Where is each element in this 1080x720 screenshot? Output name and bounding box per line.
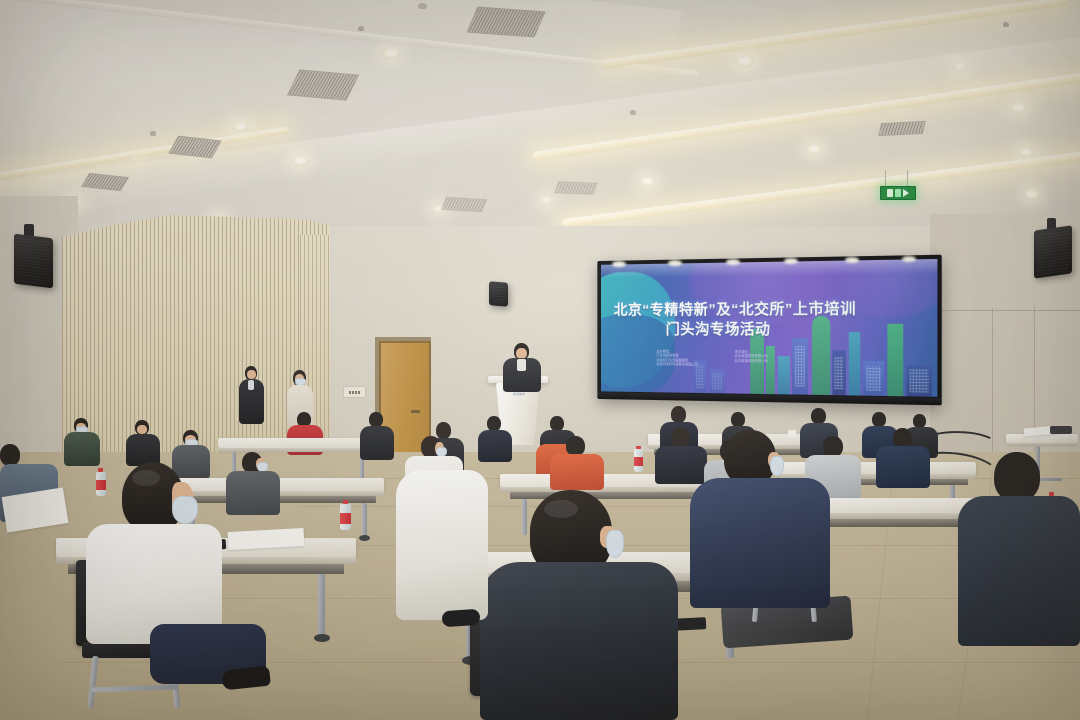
attendee-far-4	[360, 412, 394, 460]
attendee-body	[64, 432, 100, 466]
hvac-vent-7	[554, 181, 598, 194]
screen-title-line2: 门头沟专场活动	[666, 318, 771, 339]
screen-credits-left: 主办单位： 门头沟区经信局 中关村门头沟园管委会 北京中关村科技服务有限公司	[656, 349, 698, 367]
attendee-mask	[770, 456, 784, 476]
downlight-16	[540, 196, 553, 204]
attendee-standing-man	[239, 366, 265, 424]
attendee-mid-7	[876, 428, 930, 488]
attendee-body	[478, 430, 512, 462]
screen-reflection-2	[668, 260, 682, 266]
attendee-head	[994, 452, 1040, 502]
building-windows-4	[910, 369, 929, 392]
wall-speaker-left	[14, 234, 53, 289]
desk-leg	[362, 503, 367, 537]
downlight-9	[1010, 103, 1027, 113]
building-green-4	[887, 324, 903, 397]
attendee-shoe	[221, 666, 271, 691]
attendee-face	[137, 425, 147, 434]
exit-sign-rod-left	[885, 170, 886, 187]
attendee-head	[671, 406, 686, 423]
desk-foot	[314, 634, 330, 642]
conference-room-photo: 北京“专精特新”及“北交所”上市培训 门头沟专场活动 主办单位： 门头沟区经信局…	[0, 0, 1080, 720]
desk-leg	[318, 574, 325, 636]
emergency-exit-sign	[880, 186, 916, 200]
building-dark-2	[906, 365, 932, 397]
attendee-head	[811, 408, 826, 424]
building-windows-5	[696, 364, 705, 388]
wall-speaker-mid	[489, 281, 508, 306]
attendee-body	[550, 454, 604, 490]
downlight-12	[640, 177, 655, 186]
attendee-body	[958, 496, 1080, 646]
attendee-mask	[172, 496, 198, 524]
screen-credits-right: 承办单位： 北京某某股份有限公司 北京某某科技有限公司	[735, 350, 768, 363]
attendee-shirt	[248, 380, 254, 390]
av-table-top	[1006, 434, 1078, 443]
downlight-18	[952, 62, 967, 71]
building-windows-2	[834, 356, 843, 389]
downlight-1	[382, 48, 401, 59]
attendee-head	[566, 436, 585, 456]
wall-panel-seam-1	[992, 308, 993, 458]
attendee-head	[0, 444, 20, 466]
speaker-grill-right	[1037, 229, 1069, 275]
hvac-vent-1	[287, 69, 359, 100]
desk-foot	[359, 535, 370, 541]
desk-top	[218, 438, 378, 448]
water-bottle-1[interactable]	[340, 500, 351, 530]
av-table-device	[1050, 426, 1072, 434]
attendee-head	[487, 416, 501, 431]
sprinkler-head-4	[1003, 22, 1009, 27]
building-mid-2	[709, 369, 724, 393]
building-blue-2	[863, 361, 884, 396]
hvac-vent-6	[441, 197, 488, 212]
attendee-front-white-shirt	[86, 462, 266, 720]
attendee-body-coat	[396, 470, 488, 620]
presenter-shirt	[517, 359, 526, 371]
building-windows-6	[712, 373, 722, 389]
attendee-front-white-coat	[396, 470, 506, 650]
building-teal-1	[778, 356, 790, 394]
attendee-front-navy	[690, 430, 840, 630]
downlight-11	[1024, 190, 1039, 199]
building-teal-2	[849, 332, 860, 396]
door-plaque	[343, 386, 366, 398]
screen-title-line1: 北京“专精特新”及“北交所”上市培训	[614, 297, 856, 319]
attendee-head	[550, 416, 564, 431]
exit-arrow-icon	[903, 189, 909, 197]
attendee-mid-3	[550, 436, 604, 490]
attendee-mask	[606, 530, 624, 558]
wall-panel-seam-3	[930, 310, 1080, 311]
running-man-icon	[887, 189, 893, 197]
downlight-10	[1018, 148, 1034, 157]
exit-sign-rod-right	[907, 170, 908, 187]
building-windows-1	[795, 346, 805, 386]
wall-speaker-right	[1034, 225, 1072, 278]
led-screen-shell: 北京“专精特新”及“北交所”上市培训 门头沟专场活动 主办单位： 门头沟区经信局…	[597, 255, 941, 406]
sprinkler-head-3	[630, 110, 636, 115]
attendee-far-6	[478, 416, 512, 462]
downlight-7	[735, 56, 754, 67]
av-table-edge	[1006, 443, 1078, 446]
downlight-3	[292, 156, 309, 166]
attendee-far-2	[126, 420, 160, 466]
hvac-vent-2	[466, 7, 545, 38]
led-screen-display: 北京“专精特新”及“北交所”上市培训 门头沟专场活动 主办单位： 门头沟区经信局…	[601, 259, 937, 397]
building-windows-3	[866, 366, 881, 391]
building-dark-1	[832, 350, 845, 395]
bottle-label	[340, 513, 351, 524]
sprinkler-head-2	[150, 131, 156, 136]
attendee-far-1	[64, 418, 100, 466]
attendee-head	[893, 428, 912, 448]
downlight-2	[232, 122, 249, 132]
bottle-label	[634, 457, 643, 466]
attendee-head	[872, 412, 886, 427]
screen-reflection-4	[784, 258, 798, 264]
attendee-head	[671, 428, 690, 448]
building-green-3	[812, 316, 830, 395]
water-bottle-2[interactable]	[634, 446, 643, 472]
downlight-6	[130, 155, 139, 161]
screen-reflection-5	[845, 257, 859, 263]
attendee-front-dark-jacket	[480, 490, 700, 720]
attendee-body-navy	[690, 478, 830, 608]
attendee-right-edge	[958, 452, 1080, 652]
hair-highlight	[544, 500, 578, 518]
attendee-head	[913, 414, 926, 428]
hair-highlight	[132, 470, 160, 486]
attendee-head	[731, 412, 745, 427]
door-handle[interactable]	[411, 410, 420, 413]
screen-city-skyline	[742, 307, 937, 397]
attendee-head	[369, 412, 383, 427]
attendee-body	[876, 446, 930, 488]
presenter	[500, 343, 544, 389]
screen-reflection-3	[726, 259, 740, 265]
sprinkler-head-1	[358, 26, 364, 31]
screen-reflection-1	[612, 261, 626, 267]
hvac-vent-5	[878, 121, 926, 136]
screen-reflection-6	[902, 256, 916, 262]
building-blue-1	[792, 338, 808, 395]
speaker-grill-left	[17, 237, 50, 285]
door-glyph-icon	[895, 189, 901, 197]
speaker-grill-mid	[492, 285, 505, 304]
attendee-face	[247, 370, 256, 379]
plaque-text-icon	[349, 391, 360, 394]
smoke-detector	[418, 3, 427, 9]
attendee-shoe	[441, 609, 480, 628]
attendee-body	[360, 426, 394, 460]
downlight-8	[806, 145, 822, 154]
attendee-body-jacket	[480, 562, 678, 720]
